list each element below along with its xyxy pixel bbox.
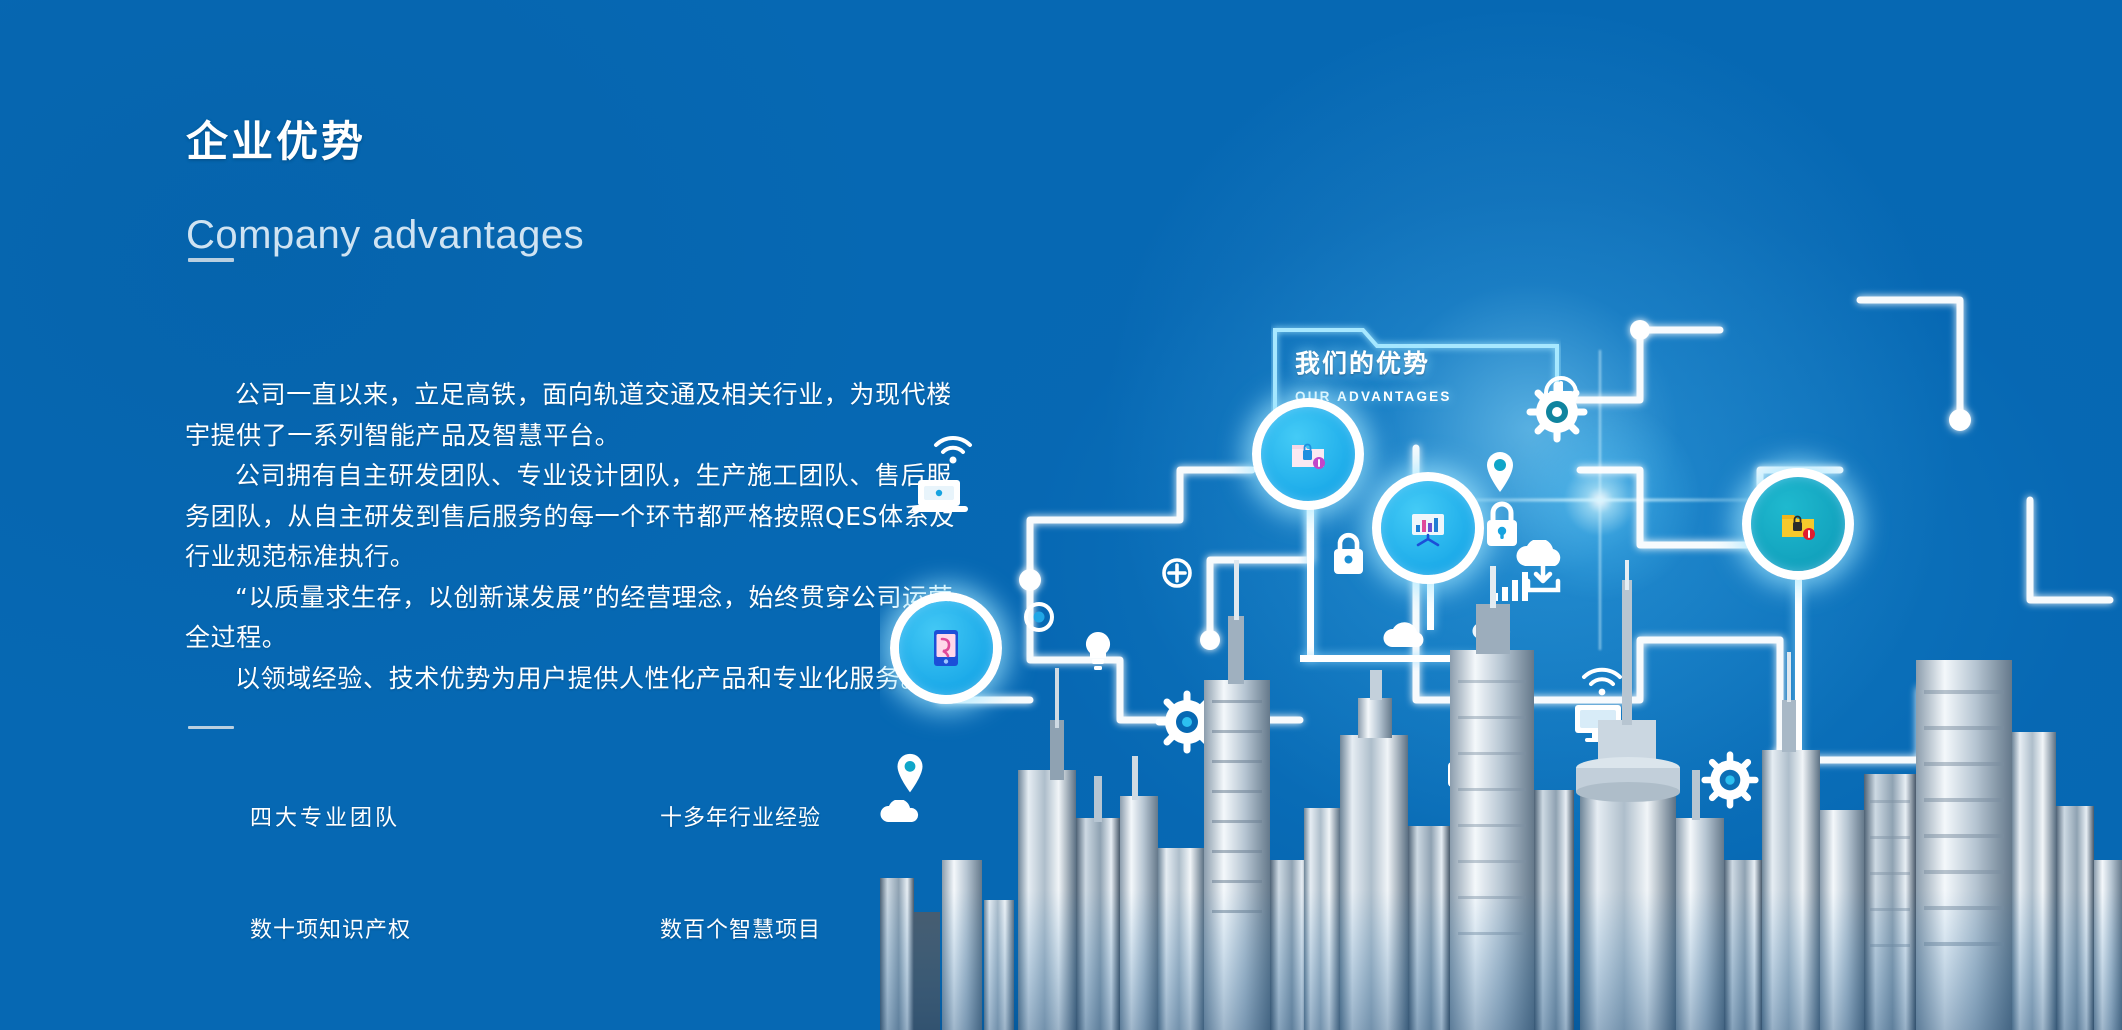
gear-icon — [1525, 380, 1589, 444]
body-copy: 公司一直以来，立足高铁，面向轨道交通及相关行业，为现代楼宇提供了一系列智能产品及… — [185, 375, 975, 699]
title-divider — [188, 258, 234, 262]
node-dot-icon — [1630, 320, 1650, 340]
stat-item-patents: 数十项知识产权 — [250, 912, 660, 944]
stats-divider — [188, 726, 234, 729]
paragraph-2: 公司拥有自主研发团队、专业设计团队，生产施工团队、售后服务团队，从自主研发到售后… — [185, 456, 975, 578]
folder-lock-yellow-icon — [1773, 499, 1823, 549]
paragraph-1: 公司一直以来，立足高铁，面向轨道交通及相关行业，为现代楼宇提供了一系列智能产品及… — [185, 375, 975, 456]
card-title-cn: 我们的优势 — [1295, 344, 1452, 380]
city-skyline — [880, 560, 2122, 1030]
folder-lock-icon — [1283, 429, 1333, 479]
slide-canvas: 企业优势 Company advantages 公司一直以来，立足高铁，面向轨道… — [0, 0, 2122, 1030]
paragraph-4: 以领域经验、技术优势为用户提供人性化产品和专业化服务。 — [185, 659, 975, 700]
stat-item-projects: 数百个智慧项目 — [660, 912, 890, 944]
bubble-folder-lock[interactable] — [1252, 398, 1364, 510]
content-column: 企业优势 Company advantages 公司一直以来，立足高铁，面向轨道… — [0, 0, 1000, 1030]
paragraph-3: “以质量求生存，以创新谋发展”的经营理念，始终贯穿公司运营全过程。 — [185, 578, 975, 659]
node-dot-icon — [1949, 409, 1971, 431]
stat-item-teams: 四大专业团队 — [250, 800, 660, 832]
illustration: 我们的优势 OUR ADVANTAGES — [880, 0, 2122, 1030]
smartphone-icon — [923, 625, 969, 671]
stat-item-experience: 十多年行业经验 — [660, 800, 890, 832]
laptop-icon — [910, 474, 974, 520]
page-title-cn: 企业优势 — [186, 108, 366, 169]
page-title-en: Company advantages — [186, 213, 584, 258]
wifi-icon — [932, 432, 974, 466]
map-pin-icon — [1482, 448, 1518, 500]
bar-chart-board-icon — [1403, 503, 1453, 553]
stats-grid: 四大专业团队 十多年行业经验 数十项知识产权 数百个智慧项目 — [250, 800, 890, 944]
padlock-icon — [1478, 498, 1526, 552]
card-text: 我们的优势 OUR ADVANTAGES — [1295, 344, 1452, 404]
